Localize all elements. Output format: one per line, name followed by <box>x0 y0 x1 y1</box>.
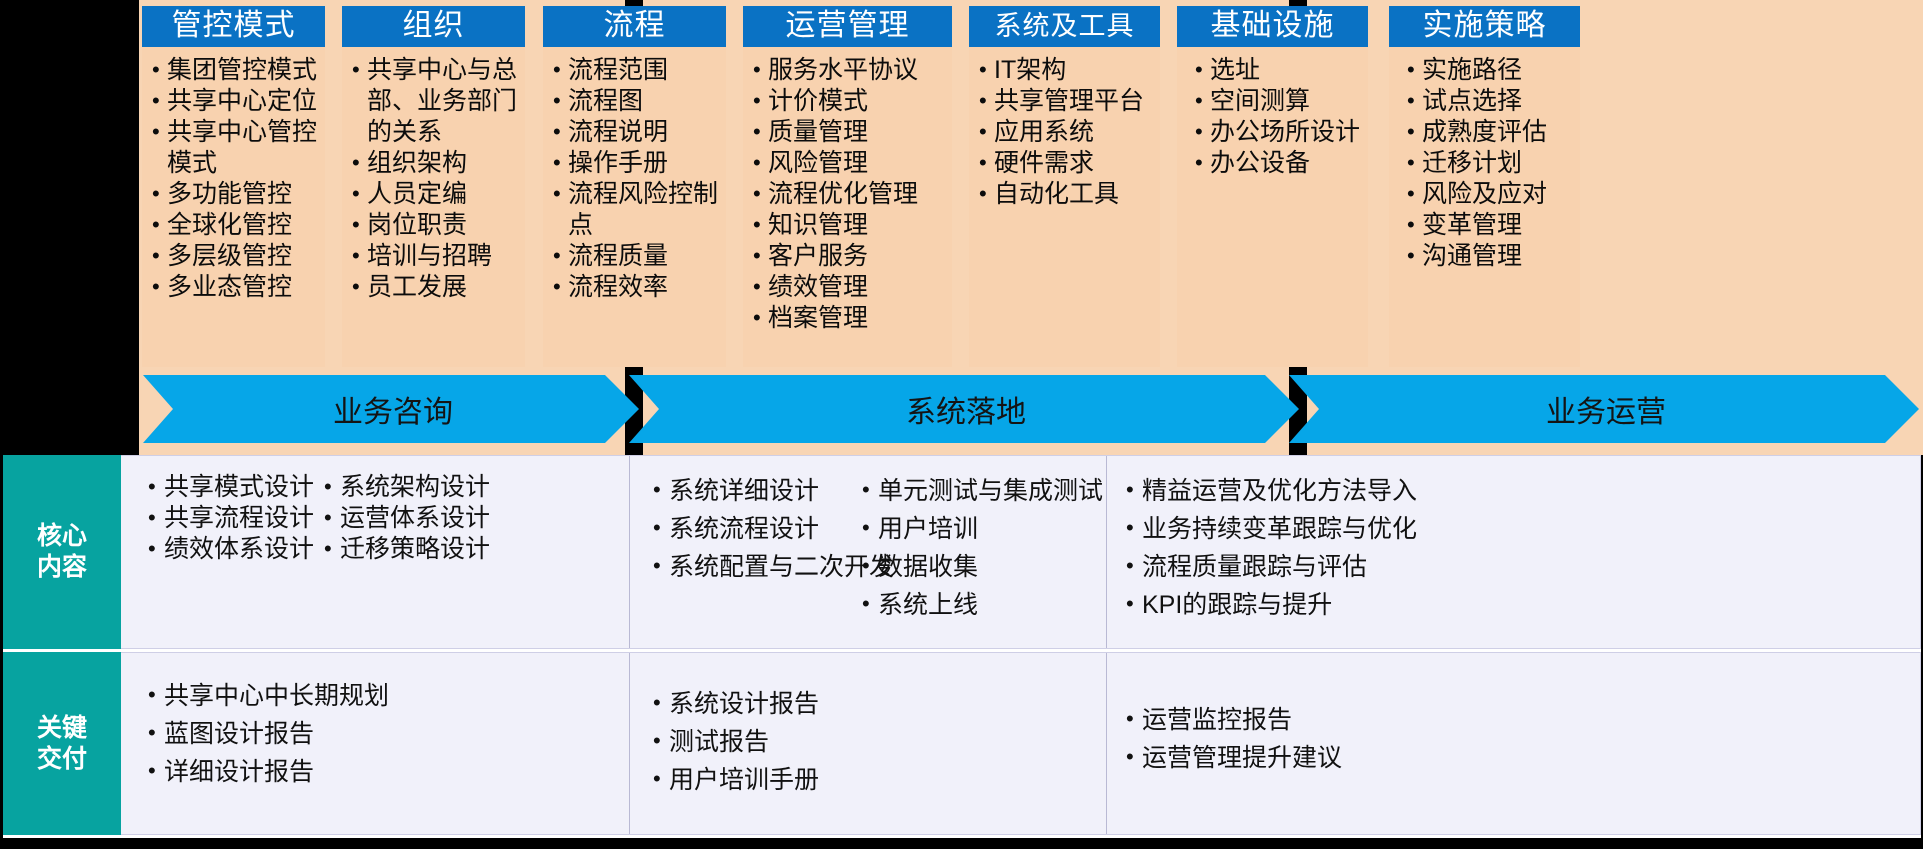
pillar-6-item-1: 试点选择 <box>1405 86 1574 117</box>
pillar-0-item-4: 全球化管控 <box>150 210 319 241</box>
cell-core-1-item-0: 系统架构设计 <box>323 472 523 503</box>
cell-deliv-1-item-0: 系统设计报告 <box>652 685 1009 723</box>
pillar-2-body: 流程范围 流程图 流程说明 操作手册 流程风险控制点 流程质量 流程效率 <box>543 47 726 367</box>
pillar-2-title: 流程 <box>543 6 726 47</box>
pillar-6-title: 实施策略 <box>1389 6 1580 47</box>
cell-core-3-item-3: 系统上线 <box>861 586 1121 624</box>
pillar-6-item-6: 沟通管理 <box>1405 241 1574 272</box>
pillar-0-title: 管控模式 <box>142 6 325 47</box>
pillar-0-item-6: 多业态管控 <box>150 272 319 303</box>
cell-core-4-item-2: 流程质量跟踪与评估 <box>1125 548 1526 586</box>
pillar-1-item-4: 培训与招聘 <box>350 241 519 272</box>
pillar-4[interactable]: 系统及工具 IT架构 共享管理平台 应用系统 硬件需求 自动化工具 <box>969 6 1160 367</box>
cell-deliv-0-item-0: 共享中心中长期规划 <box>147 677 527 715</box>
pillar-1-item-1: 组织架构 <box>350 148 519 179</box>
pillar-0[interactable]: 管控模式 集团管控模式 共享中心定位 共享中心管控模式 多功能管控 全球化管控 … <box>142 6 325 367</box>
phase-arrow-2-label: 业务运营 <box>1546 387 1666 431</box>
pillar-1-title: 组织 <box>342 6 525 47</box>
cell-deliv-0: 共享中心中长期规划 蓝图设计报告 详细设计报告 <box>147 653 527 834</box>
pillar-5-body: 选址 空间测算 办公场所设计 办公设备 <box>1177 47 1368 367</box>
row-label-core-content-line1: 核心 <box>37 521 87 552</box>
cell-core-0-item-2: 绩效体系设计 <box>147 534 347 565</box>
cell-core-2-item-0: 系统详细设计 <box>652 472 889 510</box>
row-label-key-deliverables: 关键 交付 <box>3 652 121 835</box>
cell-deliv-2: 运营监控报告 运营管理提升建议 <box>1106 653 1526 834</box>
phase-arrow-2[interactable]: 业务运营 <box>1289 375 1919 443</box>
pillar-5[interactable]: 基础设施 选址 空间测算 办公场所设计 办公设备 <box>1177 6 1368 367</box>
pillar-3[interactable]: 运营管理 服务水平协议 计价模式 质量管理 风险管理 流程优化管理 知识管理 客… <box>743 6 952 367</box>
table-row-key-deliverables: 关键 交付 共享中心中长期规划 蓝图设计报告 详细设计报告 系统设计报告 测试报… <box>3 652 1921 835</box>
phase-arrow-band: 业务咨询 系统落地 业务运营 <box>139 375 1923 449</box>
pillar-2-item-5: 流程质量 <box>551 241 720 272</box>
pillar-4-item-0: IT架构 <box>977 55 1154 86</box>
phase-arrow-0[interactable]: 业务咨询 <box>143 375 639 443</box>
pillar-3-body: 服务水平协议 计价模式 质量管理 风险管理 流程优化管理 知识管理 客户服务 绩… <box>743 47 952 367</box>
pillar-3-item-2: 质量管理 <box>751 117 946 148</box>
pillar-6[interactable]: 实施策略 实施路径 试点选择 成熟度评估 迁移计划 风险及应对 变革管理 沟通管… <box>1389 6 1580 367</box>
row-label-key-deliverables-line1: 关键 <box>37 713 87 744</box>
pillar-5-item-3: 办公设备 <box>1193 148 1362 179</box>
pillar-1-item-2: 人员定编 <box>350 179 519 210</box>
pillar-1-item-3: 岗位职责 <box>350 210 519 241</box>
pillar-6-item-4: 风险及应对 <box>1405 179 1574 210</box>
pillar-1-item-5: 员工发展 <box>350 272 519 303</box>
cell-deliv-2-item-1: 运营管理提升建议 <box>1125 739 1526 777</box>
pillar-5-title: 基础设施 <box>1177 6 1368 47</box>
cell-core-1: 系统架构设计 运营体系设计 迁移策略设计 <box>323 456 523 648</box>
pillar-3-item-8: 档案管理 <box>751 303 946 334</box>
pillar-4-item-2: 应用系统 <box>977 117 1154 148</box>
pillar-1[interactable]: 组织 共享中心与总部、业务部门的关系 组织架构 人员定编 岗位职责 培训与招聘 … <box>342 6 525 367</box>
pillar-2-item-3: 操作手册 <box>551 148 720 179</box>
row-cells-core-content: 共享模式设计 共享流程设计 绩效体系设计 系统架构设计 运营体系设计 迁移策略设… <box>121 455 1921 649</box>
cell-deliv-1-item-2: 用户培训手册 <box>652 761 1009 799</box>
pillar-2-item-6: 流程效率 <box>551 272 720 303</box>
cell-core-2: 系统详细设计 系统流程设计 系统配置与二次开发 <box>629 456 889 648</box>
cell-deliv-1-item-1: 测试报告 <box>652 723 1009 761</box>
phase-arrow-1-label: 系统落地 <box>906 387 1026 431</box>
pillar-2-item-4: 流程风险控制点 <box>551 179 720 241</box>
pillar-5-item-0: 选址 <box>1193 55 1362 86</box>
pillar-4-body: IT架构 共享管理平台 应用系统 硬件需求 自动化工具 <box>969 47 1160 367</box>
cell-core-1-item-2: 迁移策略设计 <box>323 534 523 565</box>
pillar-0-item-0: 集团管控模式 <box>150 55 319 86</box>
row-label-core-content-line2: 内容 <box>37 552 87 583</box>
pillar-2-item-1: 流程图 <box>551 86 720 117</box>
diagram-canvas: 管控模式 集团管控模式 共享中心定位 共享中心管控模式 多功能管控 全球化管控 … <box>0 0 1923 849</box>
cell-core-4-item-1: 业务持续变革跟踪与优化 <box>1125 510 1526 548</box>
pillar-6-item-0: 实施路径 <box>1405 55 1574 86</box>
cell-core-0-item-0: 共享模式设计 <box>147 472 347 503</box>
cell-core-0: 共享模式设计 共享流程设计 绩效体系设计 <box>147 456 347 648</box>
cell-core-4-item-0: 精益运营及优化方法导入 <box>1125 472 1526 510</box>
pillar-3-item-6: 客户服务 <box>751 241 946 272</box>
cell-core-3-item-0: 单元测试与集成测试 <box>861 472 1121 510</box>
pillar-5-item-1: 空间测算 <box>1193 86 1362 117</box>
cell-core-2-item-1: 系统流程设计 <box>652 510 889 548</box>
pillar-0-item-5: 多层级管控 <box>150 241 319 272</box>
pillar-2-item-2: 流程说明 <box>551 117 720 148</box>
cell-deliv-1: 系统设计报告 测试报告 用户培训手册 <box>629 653 1009 834</box>
pillar-6-item-5: 变革管理 <box>1405 210 1574 241</box>
pillar-2-item-0: 流程范围 <box>551 55 720 86</box>
pillar-6-body: 实施路径 试点选择 成熟度评估 迁移计划 风险及应对 变革管理 沟通管理 <box>1389 47 1580 367</box>
pillar-4-title: 系统及工具 <box>969 6 1160 47</box>
pillar-3-item-4: 流程优化管理 <box>751 179 946 210</box>
pillar-2[interactable]: 流程 流程范围 流程图 流程说明 操作手册 流程风险控制点 流程质量 流程效率 <box>543 6 726 367</box>
pillar-5-item-2: 办公场所设计 <box>1193 117 1362 148</box>
pillar-6-item-2: 成熟度评估 <box>1405 117 1574 148</box>
pillar-0-item-2: 共享中心管控模式 <box>150 117 319 179</box>
pillar-6-item-3: 迁移计划 <box>1405 148 1574 179</box>
table-row-core-content: 核心 内容 共享模式设计 共享流程设计 绩效体系设计 系统架构设计 运营体系设计… <box>3 455 1921 649</box>
phase-arrow-1[interactable]: 系统落地 <box>629 375 1299 443</box>
cell-core-0-item-1: 共享流程设计 <box>147 503 347 534</box>
cell-deliv-0-item-2: 详细设计报告 <box>147 753 527 791</box>
pillar-3-item-0: 服务水平协议 <box>751 55 946 86</box>
row-cells-key-deliverables: 共享中心中长期规划 蓝图设计报告 详细设计报告 系统设计报告 测试报告 用户培训… <box>121 652 1921 835</box>
pillar-4-item-4: 自动化工具 <box>977 179 1154 210</box>
pillar-4-item-3: 硬件需求 <box>977 148 1154 179</box>
pillar-0-item-3: 多功能管控 <box>150 179 319 210</box>
row-label-core-content: 核心 内容 <box>3 455 121 649</box>
pillar-0-item-1: 共享中心定位 <box>150 86 319 117</box>
pillar-1-body: 共享中心与总部、业务部门的关系 组织架构 人员定编 岗位职责 培训与招聘 员工发… <box>342 47 525 367</box>
cell-core-1-item-1: 运营体系设计 <box>323 503 523 534</box>
pillar-0-body: 集团管控模式 共享中心定位 共享中心管控模式 多功能管控 全球化管控 多层级管控… <box>142 47 325 367</box>
cell-core-3-item-1: 用户培训 <box>861 510 1121 548</box>
row-label-key-deliverables-line2: 交付 <box>37 744 87 775</box>
bottom-table: 核心 内容 共享模式设计 共享流程设计 绩效体系设计 系统架构设计 运营体系设计… <box>3 455 1921 838</box>
cell-core-2-item-2: 系统配置与二次开发 <box>652 548 889 586</box>
phase-arrow-0-label: 业务咨询 <box>333 387 453 431</box>
pillar-3-item-3: 风险管理 <box>751 148 946 179</box>
pillar-3-item-7: 绩效管理 <box>751 272 946 303</box>
pillar-3-item-1: 计价模式 <box>751 86 946 117</box>
cell-core-3-item-2: 数据收集 <box>861 548 1121 586</box>
cell-core-4: 精益运营及优化方法导入 业务持续变革跟踪与优化 流程质量跟踪与评估 KPI的跟踪… <box>1106 456 1526 648</box>
pillar-3-item-5: 知识管理 <box>751 210 946 241</box>
pillar-3-title: 运营管理 <box>743 6 952 47</box>
cell-deliv-2-item-0: 运营监控报告 <box>1125 701 1526 739</box>
cell-core-3: 单元测试与集成测试 用户培训 数据收集 系统上线 <box>861 456 1121 648</box>
cell-core-4-item-3: KPI的跟踪与提升 <box>1125 586 1526 624</box>
pillar-1-item-0: 共享中心与总部、业务部门的关系 <box>350 55 519 148</box>
cell-deliv-0-item-1: 蓝图设计报告 <box>147 715 527 753</box>
pillar-4-item-1: 共享管理平台 <box>977 86 1154 117</box>
